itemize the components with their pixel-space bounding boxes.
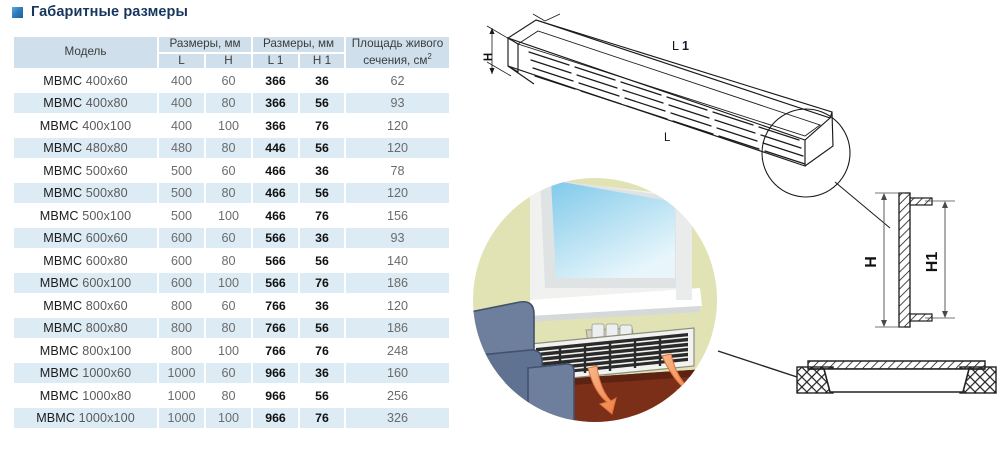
grille-left-cap <box>508 38 518 72</box>
cell-l1: 366 <box>252 114 299 137</box>
cell-area: 78 <box>345 159 450 182</box>
section-flange-bottom <box>910 314 932 321</box>
cell-l: 600 <box>158 272 205 295</box>
louver-group <box>621 82 667 119</box>
section-heading: Габаритные размеры <box>12 4 188 20</box>
model-size: 600x80 <box>86 254 128 268</box>
cell-h1: 36 <box>299 69 345 92</box>
model-size: 500x100 <box>82 209 131 223</box>
col-header-group-lh: Размеры, мм <box>158 36 252 53</box>
table-row: МВМС 480x804808044656120 <box>13 137 450 160</box>
model-brand: МВМС <box>43 254 85 268</box>
cell-h1: 56 <box>299 317 345 340</box>
cell-h: 100 <box>205 272 252 295</box>
cell-h1: 56 <box>299 384 345 407</box>
cell-l: 500 <box>158 159 205 182</box>
col-header-l1: L 1 <box>252 53 299 70</box>
cell-l1: 966 <box>252 407 299 430</box>
cell-l1: 766 <box>252 317 299 340</box>
cell-l: 480 <box>158 137 205 160</box>
dimensions-table: Модель Размеры, мм Размеры, мм Площадь ж… <box>12 35 451 430</box>
cell-l1: 466 <box>252 159 299 182</box>
cell-model: МВМС 800x100 <box>13 339 158 362</box>
model-size: 500x60 <box>86 164 128 178</box>
cell-h1: 76 <box>299 407 345 430</box>
cell-h: 60 <box>205 294 252 317</box>
section-plate <box>899 193 910 327</box>
cell-h: 80 <box>205 137 252 160</box>
section-label-h1: H1 <box>924 252 941 273</box>
model-brand: МВМС <box>40 119 82 133</box>
cell-area: 248 <box>345 339 450 362</box>
cell-area: 120 <box>345 294 450 317</box>
col-header-area: Площадь живого сечения, см2 <box>345 36 450 69</box>
cell-area: 120 <box>345 182 450 205</box>
cell-h1: 56 <box>299 137 345 160</box>
table-row: МВМС 1000x100100010096676326 <box>13 407 450 430</box>
window-sill <box>530 288 702 316</box>
model-size: 1000x80 <box>82 389 131 403</box>
louver-slots <box>529 52 805 164</box>
cell-h1: 36 <box>299 159 345 182</box>
cell-area: 93 <box>345 92 450 115</box>
cell-l1: 766 <box>252 294 299 317</box>
model-size: 400x60 <box>86 74 128 88</box>
cell-h: 100 <box>205 339 252 362</box>
cell-l1: 566 <box>252 249 299 272</box>
mount-wall-left <box>797 367 833 393</box>
model-brand: МВМС <box>40 389 82 403</box>
cell-l: 500 <box>158 204 205 227</box>
table-row: МВМС 600x806008056656140 <box>13 249 450 272</box>
model-brand: МВМС <box>43 231 85 245</box>
col-header-l: L <box>158 53 205 70</box>
wall-grille-graphic <box>530 324 694 382</box>
cell-model: МВМС 1000x60 <box>13 362 158 385</box>
cell-model: МВМС 600x100 <box>13 272 158 295</box>
section-flange-top <box>910 198 932 205</box>
illustration-circle-bg <box>473 178 717 422</box>
model-size: 500x80 <box>86 186 128 200</box>
cell-area: 120 <box>345 137 450 160</box>
isometric-grille-drawing <box>487 14 890 228</box>
mount-body <box>824 369 969 392</box>
cell-h: 60 <box>205 159 252 182</box>
cell-l: 800 <box>158 317 205 340</box>
model-brand: МВМС <box>43 164 85 178</box>
cell-h1: 76 <box>299 339 345 362</box>
cell-h1: 36 <box>299 362 345 385</box>
cell-l: 1000 <box>158 407 205 430</box>
cell-h1: 76 <box>299 272 345 295</box>
cell-h: 80 <box>205 249 252 272</box>
cell-model: МВМС 400x80 <box>13 92 158 115</box>
cell-l: 600 <box>158 249 205 272</box>
table-row: МВМС 800x608006076636120 <box>13 294 450 317</box>
cell-l: 600 <box>158 227 205 250</box>
cell-l: 400 <box>158 69 205 92</box>
cell-l1: 566 <box>252 272 299 295</box>
cell-l: 500 <box>158 182 205 205</box>
square-bullet-icon <box>12 7 23 18</box>
cell-l: 1000 <box>158 384 205 407</box>
col-header-model: Модель <box>13 36 158 69</box>
page-root: Габаритные размеры Модель Размеры, мм Ра… <box>0 0 1001 464</box>
dimension-top-tick <box>533 14 560 21</box>
model-size: 1000x60 <box>82 366 131 380</box>
grille-inner-frame <box>518 31 820 136</box>
table-row: МВМС 400x80400803665693 <box>13 92 450 115</box>
cell-h: 80 <box>205 182 252 205</box>
model-brand: МВМС <box>43 141 85 155</box>
table-header-row-1: Модель Размеры, мм Размеры, мм Площадь ж… <box>13 36 450 53</box>
cell-h1: 76 <box>299 204 345 227</box>
grille-right-wall <box>805 112 833 166</box>
floor-edge <box>470 368 720 392</box>
cell-l1: 466 <box>252 182 299 205</box>
cell-area: 186 <box>345 272 450 295</box>
table-row: МВМС 600x60600605663693 <box>13 227 450 250</box>
cell-h: 80 <box>205 384 252 407</box>
cell-area: 156 <box>345 204 450 227</box>
model-size: 400x100 <box>82 119 131 133</box>
model-size: 800x100 <box>82 344 131 358</box>
cell-area: 93 <box>345 227 450 250</box>
model-brand: МВМС <box>40 366 82 380</box>
col-header-h: H <box>205 53 252 70</box>
window-graphic <box>530 178 702 322</box>
cell-h: 60 <box>205 69 252 92</box>
cell-area: 62 <box>345 69 450 92</box>
col-header-group-l1h1: Размеры, мм <box>252 36 345 53</box>
model-size: 1000x100 <box>79 411 135 425</box>
louver-group <box>529 52 575 89</box>
cell-h: 80 <box>205 317 252 340</box>
model-brand: МВМС <box>36 411 78 425</box>
cell-h1: 56 <box>299 249 345 272</box>
model-brand: МВМС <box>40 209 82 223</box>
table-row: МВМС 1000x6010006096636160 <box>13 362 450 385</box>
cell-area: 326 <box>345 407 450 430</box>
model-brand: МВМС <box>43 74 85 88</box>
sofa-graphic <box>470 302 574 422</box>
cell-h1: 36 <box>299 294 345 317</box>
page-title: Габаритные размеры <box>31 4 188 20</box>
cell-area: 186 <box>345 317 450 340</box>
section-label-h: H <box>863 256 880 268</box>
model-brand: МВМС <box>43 186 85 200</box>
model-size: 600x60 <box>86 231 128 245</box>
cell-l1: 966 <box>252 384 299 407</box>
cell-model: МВМС 400x60 <box>13 69 158 92</box>
louver-group <box>759 127 805 164</box>
dimension-h-section <box>881 193 887 327</box>
cell-h1: 76 <box>299 114 345 137</box>
table-row: МВМС 500x10050010046676156 <box>13 204 450 227</box>
cell-model: МВМС 500x60 <box>13 159 158 182</box>
cell-model: МВМС 600x60 <box>13 227 158 250</box>
cell-l1: 446 <box>252 137 299 160</box>
detail-leader-line <box>835 182 890 228</box>
cell-h: 100 <box>205 407 252 430</box>
cell-h1: 56 <box>299 182 345 205</box>
table-row: МВМС 1000x8010008096656256 <box>13 384 450 407</box>
cell-l: 400 <box>158 92 205 115</box>
cell-h1: 56 <box>299 92 345 115</box>
grille-louvers <box>538 337 688 372</box>
louver-group <box>713 112 759 149</box>
dimension-h-iso <box>487 26 511 76</box>
iso-label-l: L <box>664 132 671 144</box>
mount-wall-right <box>960 367 996 393</box>
cell-model: МВМС 600x80 <box>13 249 158 272</box>
cell-h: 60 <box>205 227 252 250</box>
model-brand: МВМС <box>40 276 82 290</box>
cell-model: МВМС 500x80 <box>13 182 158 205</box>
cell-l1: 766 <box>252 339 299 362</box>
cell-l1: 966 <box>252 362 299 385</box>
model-size: 800x60 <box>86 299 128 313</box>
model-brand: МВМС <box>40 344 82 358</box>
floor-graphic <box>470 368 720 430</box>
cell-model: МВМС 500x100 <box>13 204 158 227</box>
mount-leader-line <box>718 351 797 377</box>
cell-model: МВМС 1000x80 <box>13 384 158 407</box>
cross-section-drawing <box>875 193 955 327</box>
cell-l: 800 <box>158 294 205 317</box>
grille-face <box>508 20 830 140</box>
model-size: 800x80 <box>86 321 128 335</box>
table-body: МВМС 400x60400603663662МВМС 400x80400803… <box>13 69 450 429</box>
cell-h: 80 <box>205 92 252 115</box>
table-row: МВМС 500x805008046656120 <box>13 182 450 205</box>
grille-left-bottom <box>508 66 534 84</box>
cell-area: 120 <box>345 114 450 137</box>
section-ext-lines <box>875 193 955 327</box>
dimension-h1-section <box>942 201 948 318</box>
cell-model: МВМС 400x100 <box>13 114 158 137</box>
cell-l: 1000 <box>158 362 205 385</box>
cell-model: МВМС 480x80 <box>13 137 158 160</box>
airflow-arrow-icon <box>588 354 693 414</box>
table-row: МВМС 600x10060010056676186 <box>13 272 450 295</box>
cell-l1: 366 <box>252 69 299 92</box>
table-head: Модель Размеры, мм Размеры, мм Площадь ж… <box>13 36 450 69</box>
cell-l1: 566 <box>252 227 299 250</box>
louver-group <box>575 67 621 104</box>
model-brand: МВМС <box>43 299 85 313</box>
cell-area: 140 <box>345 249 450 272</box>
iso-label-l1: L1 <box>672 39 689 53</box>
cell-l1: 366 <box>252 92 299 115</box>
cell-model: МВМС 1000x100 <box>13 407 158 430</box>
cell-area: 256 <box>345 384 450 407</box>
grille-back-edge <box>536 20 832 118</box>
spec-table-container: Модель Размеры, мм Размеры, мм Площадь ж… <box>12 35 449 430</box>
col-header-h1: H 1 <box>299 53 345 70</box>
table-row: МВМС 400x60400603663662 <box>13 69 450 92</box>
detail-callout-circle <box>762 109 850 197</box>
table-row: МВМС 800x10080010076676248 <box>13 339 450 362</box>
model-size: 400x80 <box>86 96 128 110</box>
room-installation-illustration <box>470 178 720 430</box>
cell-l: 400 <box>158 114 205 137</box>
cell-h: 100 <box>205 204 252 227</box>
cell-l1: 466 <box>252 204 299 227</box>
louver-group <box>667 97 713 134</box>
model-size: 480x80 <box>86 141 128 155</box>
mount-faceplate <box>808 361 985 369</box>
cell-model: МВМС 800x80 <box>13 317 158 340</box>
cell-area: 160 <box>345 362 450 385</box>
cell-h: 100 <box>205 114 252 137</box>
grille-side-wall <box>508 66 805 166</box>
model-brand: МВМС <box>43 96 85 110</box>
table-row: МВМС 800x808008076656186 <box>13 317 450 340</box>
cell-model: МВМС 800x60 <box>13 294 158 317</box>
iso-label-h: H <box>483 53 495 61</box>
col-header-area-sup: 2 <box>427 52 431 61</box>
mounting-detail-drawing <box>718 351 996 393</box>
model-brand: МВМС <box>43 321 85 335</box>
cell-l: 800 <box>158 339 205 362</box>
table-row: МВМС 500x60500604663678 <box>13 159 450 182</box>
cell-h: 60 <box>205 362 252 385</box>
cell-h1: 36 <box>299 227 345 250</box>
table-row: МВМС 400x10040010036676120 <box>13 114 450 137</box>
model-size: 600x100 <box>82 276 131 290</box>
